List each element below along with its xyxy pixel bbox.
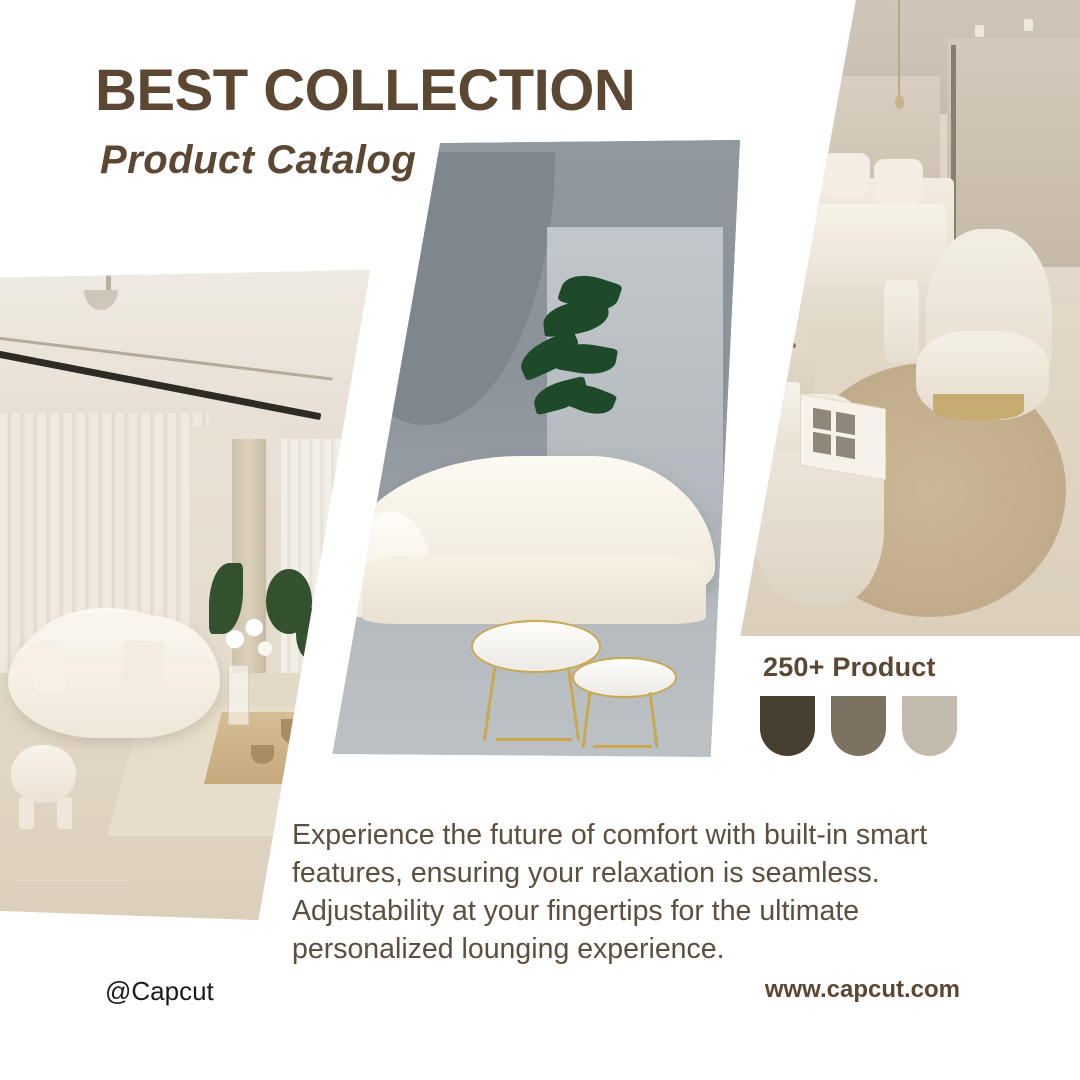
book-cover-square: [813, 408, 831, 431]
pendant-cord: [898, 0, 900, 102]
studio-scene: [320, 140, 740, 760]
table-stretcher: [593, 745, 652, 748]
bedroom-photo: [730, 0, 1080, 636]
small-pouf: [320, 549, 366, 611]
social-handle: @Capcut: [105, 976, 214, 1007]
potted-plant: [296, 608, 326, 660]
pillow: [821, 153, 870, 198]
dried-berry: [779, 350, 784, 355]
dried-berry: [784, 324, 789, 329]
page-title: BEST COLLECTION: [95, 62, 635, 120]
sofa-seat: [362, 555, 706, 623]
cup: [304, 751, 319, 777]
color-swatch-group: [760, 696, 957, 756]
pillow: [769, 159, 818, 204]
description-text: Experience the future of comfort with bu…: [292, 816, 962, 968]
bedroom-scene: [730, 0, 1080, 636]
chair-brass-base: [933, 394, 1024, 419]
book-cover-square: [836, 412, 854, 435]
studio-sofa-photo: [320, 140, 740, 760]
wood-bowl: [281, 719, 311, 745]
white-stool: [884, 280, 919, 363]
ceramic-vase: [776, 382, 801, 452]
leaf: [542, 298, 610, 336]
ceiling-spotlight: [975, 25, 984, 37]
product-count-label: 250+ Product: [763, 652, 936, 683]
ceiling-spotlight: [1024, 19, 1033, 31]
ottoman-leg: [57, 797, 72, 830]
pillow: [874, 159, 923, 204]
product-catalog-poster: BEST COLLECTION Product Catalog: [0, 0, 1080, 1080]
cushion: [120, 639, 165, 694]
ottoman-leg: [19, 797, 34, 830]
swatch-light-greige[interactable]: [902, 696, 957, 756]
glass-vase: [228, 665, 249, 726]
round-ottoman: [11, 745, 76, 804]
pendant-bulb: [895, 95, 904, 109]
swatch-dark-olive[interactable]: [760, 696, 815, 756]
page-subtitle: Product Catalog: [100, 140, 416, 180]
book-cover-square: [813, 431, 831, 454]
dried-twig: [779, 331, 788, 388]
ando-book: [800, 393, 886, 480]
table-stretcher: [496, 738, 572, 741]
swatch-taupe[interactable]: [831, 696, 886, 756]
book-cover-square: [836, 435, 854, 458]
duvet: [758, 204, 947, 287]
wood-bowl: [251, 745, 274, 765]
tile-line: [15, 880, 129, 881]
website-url[interactable]: www.capcut.com: [765, 976, 960, 1004]
